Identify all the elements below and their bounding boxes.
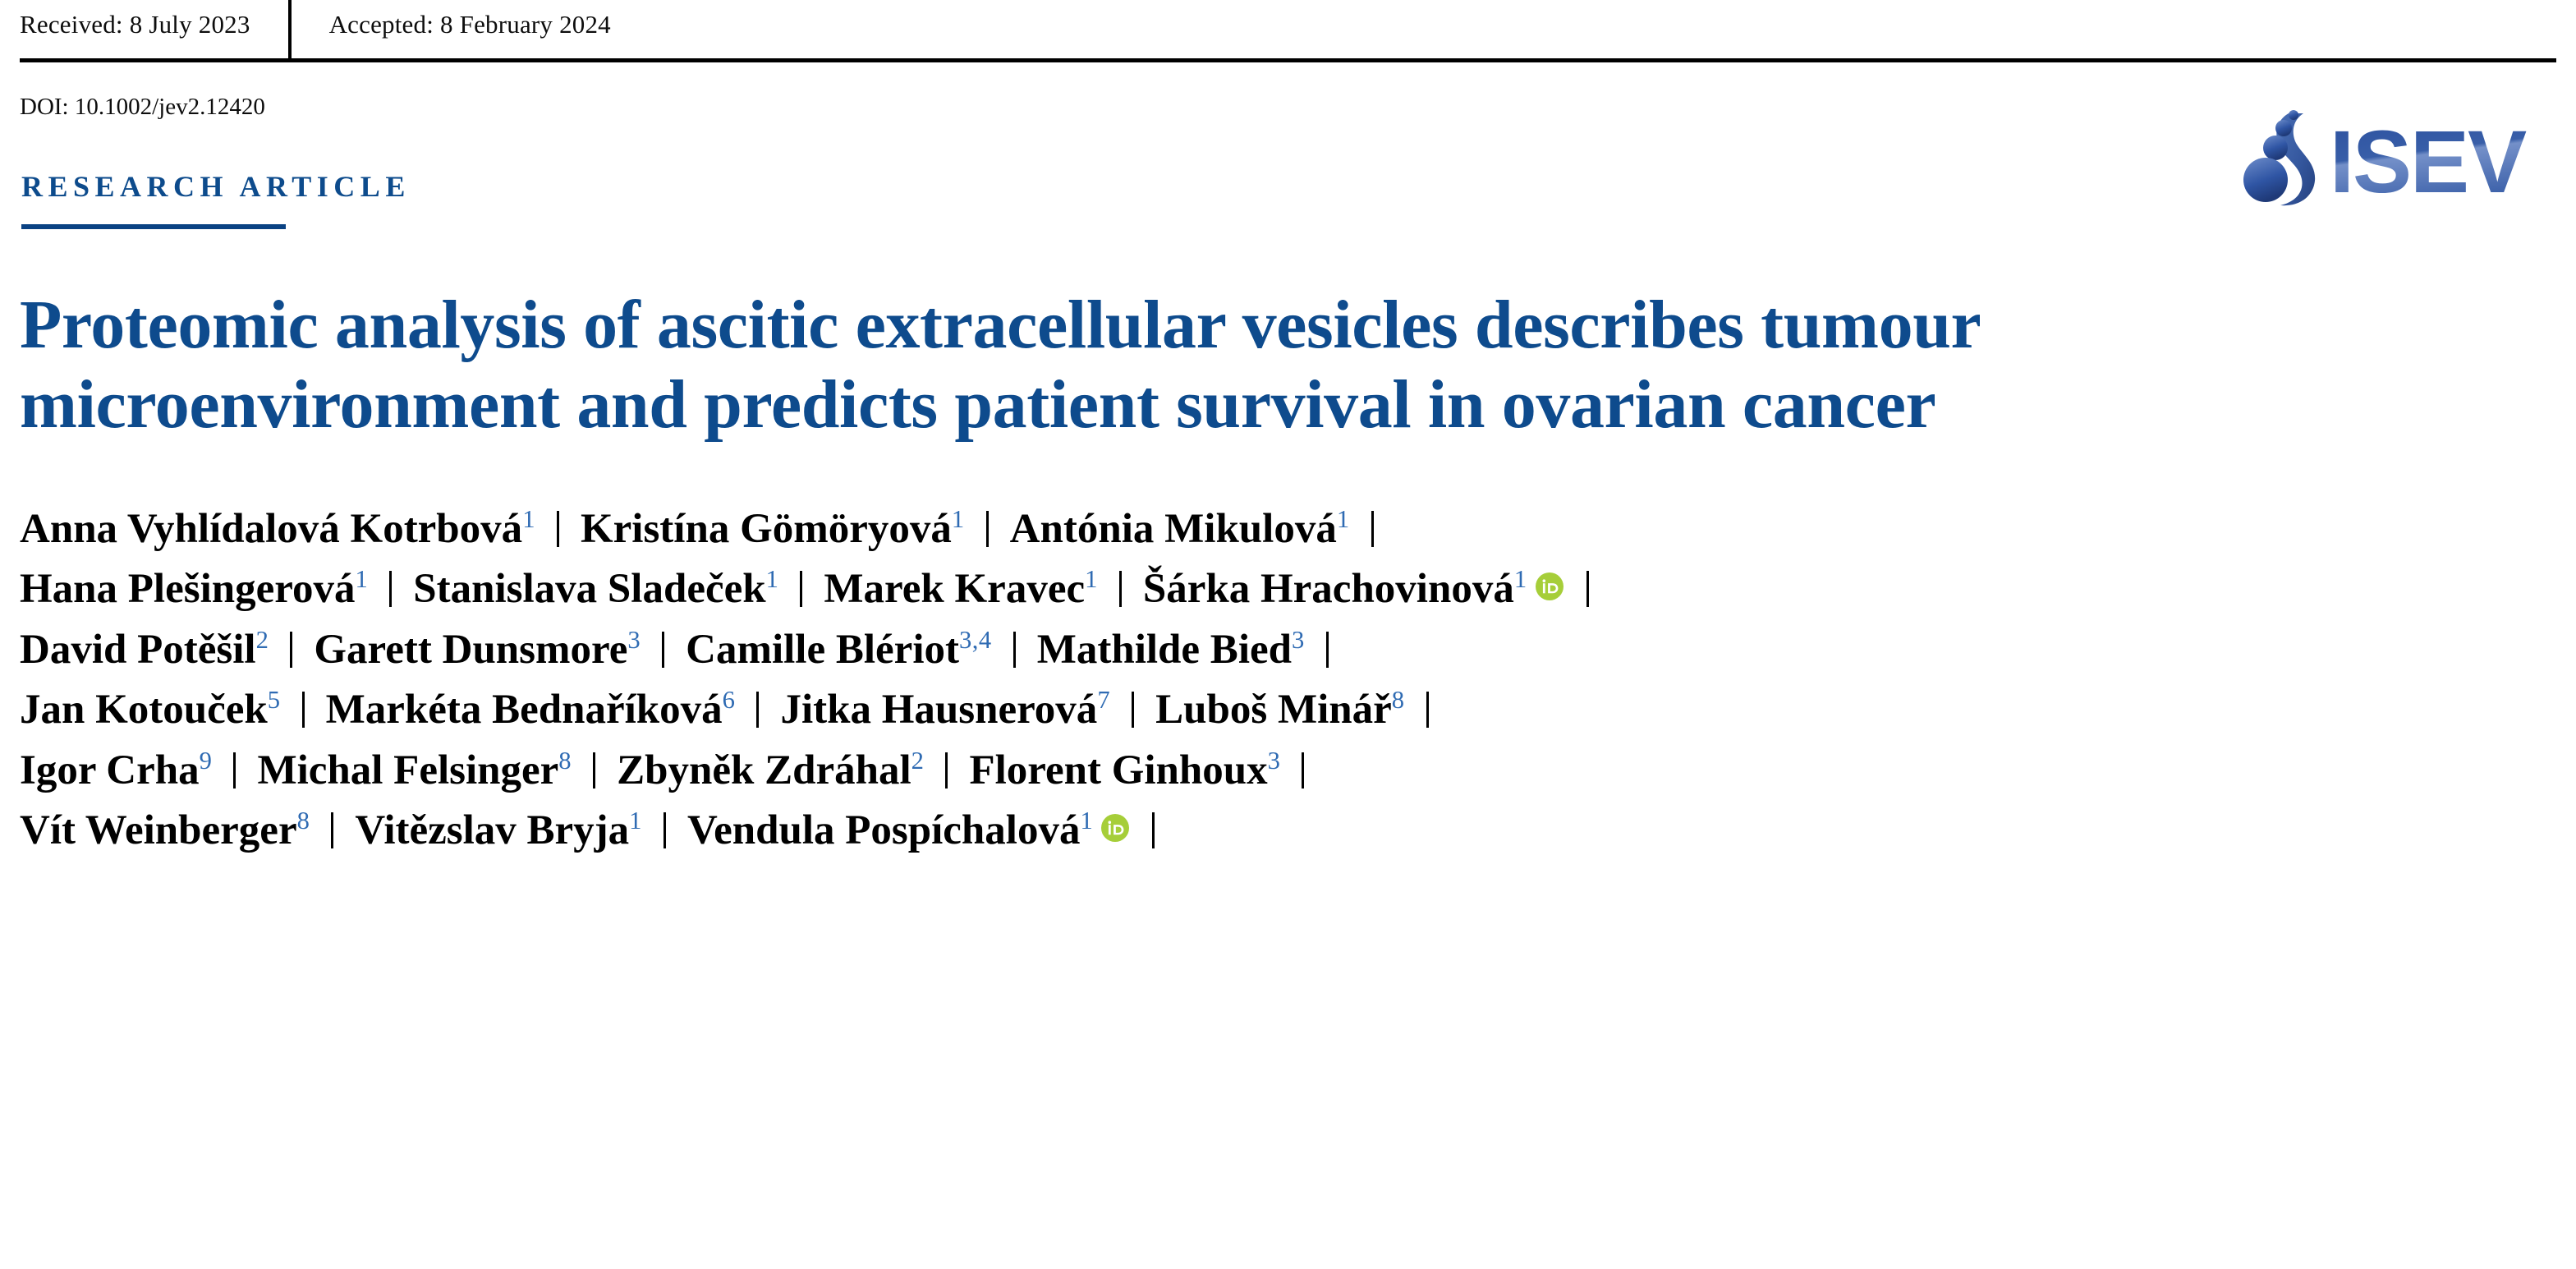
author-name[interactable]: David Potěšil2	[20, 627, 269, 673]
received-date: Received: 8 July 2023	[20, 0, 288, 37]
author-name[interactable]: Antónia Mikulová1	[1010, 506, 1350, 552]
author-name-text: Zbyněk Zdráhal	[617, 747, 911, 793]
article-type-label: RESEARCH ARTICLE	[20, 172, 2556, 201]
author-name[interactable]: Michal Felsinger8	[257, 747, 572, 793]
affiliation-marker[interactable]: 1	[1085, 565, 1098, 593]
author-separator	[986, 511, 989, 547]
author-list: Anna Vyhlídalová Kotrbová1Kristína Gömör…	[20, 499, 2556, 862]
author-name[interactable]: Anna Vyhlídalová Kotrbová1	[20, 506, 535, 552]
affiliation-marker[interactable]: 2	[911, 747, 925, 775]
author-name-text: Kristína Gömöryová	[581, 506, 952, 552]
affiliation-marker[interactable]: 3	[627, 626, 641, 654]
affiliation-marker[interactable]: 8	[297, 807, 310, 835]
author-name-text: Michal Felsinger	[257, 747, 558, 793]
author-name-text: Anna Vyhlídalová Kotrbová	[20, 506, 522, 552]
author-line: Anna Vyhlídalová Kotrbová1Kristína Gömör…	[20, 499, 2556, 559]
author-name[interactable]: Zbyněk Zdráhal2	[617, 747, 924, 793]
author-name-text: Camille Blériot	[686, 627, 959, 673]
author-separator	[664, 812, 666, 848]
affiliation-marker[interactable]: 1	[522, 505, 535, 533]
affiliation-marker[interactable]: 3	[1268, 747, 1281, 775]
isev-logo: ISEV	[2213, 103, 2558, 210]
author-name-text: Jan Kotouček	[20, 687, 268, 733]
logo-bubble-3	[2263, 136, 2288, 160]
author-name[interactable]: Jan Kotouček5	[20, 687, 281, 733]
affiliation-marker[interactable]: 1	[1337, 505, 1350, 533]
author-line: Hana Plešingerová1Stanislava Sladeček1Ma…	[20, 559, 2556, 619]
author-name-text: Antónia Mikulová	[1010, 506, 1337, 552]
article-type: RESEARCH ARTICLE	[20, 172, 2556, 229]
author-separator	[1119, 571, 1122, 607]
orcid-icon[interactable]	[1101, 814, 1129, 842]
author-name-text: Stanislava Sladeček	[413, 566, 765, 612]
author-separator	[756, 692, 759, 728]
author-separator	[800, 571, 802, 607]
author-separator	[1013, 632, 1016, 668]
affiliation-marker[interactable]: 2	[256, 626, 269, 654]
author-name-text: Jitka Hausnerová	[780, 687, 1097, 733]
author-name[interactable]: Jitka Hausnerová7	[780, 687, 1110, 733]
affiliation-marker[interactable]: 1	[355, 565, 368, 593]
affiliation-marker[interactable]: 1	[1080, 807, 1093, 835]
author-name[interactable]: Šárka Hrachovinová1	[1143, 566, 1565, 612]
affiliation-marker[interactable]: 1	[629, 807, 642, 835]
author-line: David Potěšil2Garett Dunsmore3Camille Bl…	[20, 620, 2556, 680]
affiliation-marker[interactable]: 1	[1514, 565, 1527, 593]
affiliation-marker[interactable]: 3	[1292, 626, 1305, 654]
author-separator	[389, 571, 392, 607]
author-line: Igor Crha9Michal Felsinger8Zbyněk Zdráha…	[20, 741, 2556, 801]
logo-wordmark: ISEV	[2330, 112, 2527, 210]
author-name[interactable]: Igor Crha9	[20, 747, 212, 793]
logo-bubble-2	[2275, 120, 2292, 136]
author-separator	[593, 752, 595, 789]
author-separator	[1302, 752, 1304, 789]
author-name[interactable]: Mathilde Bied3	[1037, 627, 1305, 673]
author-separator	[302, 692, 305, 728]
affiliation-marker[interactable]: 9	[200, 747, 213, 775]
article-history-bar: Received: 8 July 2023 Accepted: 8 Februa…	[20, 0, 2556, 62]
author-name-text: Hana Plešingerová	[20, 566, 355, 612]
author-name-text: Marek Kravec	[824, 566, 1085, 612]
author-name[interactable]: Vendula Pospíchalová1	[687, 807, 1131, 853]
author-separator	[1152, 812, 1155, 848]
author-separator	[1132, 692, 1134, 728]
title-line-2: microenvironment and predicts patient su…	[20, 365, 2549, 444]
author-name[interactable]: Vít Weinberger8	[20, 807, 310, 853]
accepted-date: Accepted: 8 February 2024	[292, 0, 611, 37]
orcid-icon[interactable]	[1536, 572, 1564, 600]
author-name-text: Vendula Pospíchalová	[687, 807, 1081, 853]
doi-text[interactable]: DOI: 10.1002/jev2.12420	[20, 62, 2556, 119]
affiliation-marker[interactable]: 5	[268, 686, 281, 714]
article-first-page: Received: 8 July 2023 Accepted: 8 Februa…	[0, 0, 2576, 1269]
author-separator	[290, 632, 292, 668]
author-name-text: Vít Weinberger	[20, 807, 297, 853]
affiliation-marker[interactable]: 8	[1392, 686, 1405, 714]
affiliation-marker[interactable]: 8	[558, 747, 572, 775]
title-line-1: Proteomic analysis of ascitic extracellu…	[20, 285, 2549, 365]
author-name[interactable]: Hana Plešingerová1	[20, 566, 368, 612]
author-separator	[1586, 571, 1589, 607]
author-separator	[1426, 692, 1429, 728]
author-name-text: Vitězslav Bryja	[355, 807, 629, 853]
author-name-text: Mathilde Bied	[1037, 627, 1292, 673]
logo-bubble-1	[2289, 110, 2298, 120]
affiliation-marker[interactable]: 1	[766, 565, 779, 593]
affiliation-marker[interactable]: 3,4	[959, 626, 992, 654]
author-separator	[945, 752, 948, 789]
author-separator	[557, 511, 559, 547]
author-name[interactable]: Camille Blériot3,4	[686, 627, 992, 673]
author-separator	[331, 812, 333, 848]
affiliation-marker[interactable]: 7	[1097, 686, 1110, 714]
header-rule	[20, 58, 2556, 62]
author-line: Jan Kotouček5Markéta Bednaříková6Jitka H…	[20, 680, 2556, 740]
author-name-text: Igor Crha	[20, 747, 200, 793]
author-name-text: David Potěšil	[20, 627, 256, 673]
author-name[interactable]: Stanislava Sladeček1	[413, 566, 778, 612]
article-type-rule	[21, 224, 286, 229]
author-name[interactable]: Luboš Minář8	[1155, 687, 1404, 733]
author-separator	[1326, 632, 1329, 668]
author-name-text: Šárka Hrachovinová	[1143, 566, 1514, 612]
author-separator	[233, 752, 236, 789]
author-name[interactable]: Marek Kravec1	[824, 566, 1097, 612]
author-name[interactable]: Kristína Gömöryová1	[581, 506, 965, 552]
page-title: Proteomic analysis of ascitic extracellu…	[20, 285, 2549, 445]
author-name[interactable]: Garett Dunsmore3	[314, 627, 641, 673]
affiliation-marker[interactable]: 6	[723, 686, 736, 714]
author-separator	[662, 632, 664, 668]
author-name[interactable]: Markéta Bednaříková6	[326, 687, 736, 733]
author-name-text: Luboš Minář	[1155, 687, 1392, 733]
author-name[interactable]: Florent Ginhoux3	[969, 747, 1280, 793]
author-separator	[1371, 511, 1374, 547]
author-name-text: Garett Dunsmore	[314, 627, 627, 673]
logo-bubble-4	[2243, 158, 2288, 202]
affiliation-marker[interactable]: 1	[952, 505, 965, 533]
author-name-text: Markéta Bednaříková	[326, 687, 723, 733]
author-name-text: Florent Ginhoux	[969, 747, 1267, 793]
author-line: Vít Weinberger8Vitězslav Bryja1Vendula P…	[20, 801, 2556, 861]
author-name[interactable]: Vitězslav Bryja1	[355, 807, 642, 853]
